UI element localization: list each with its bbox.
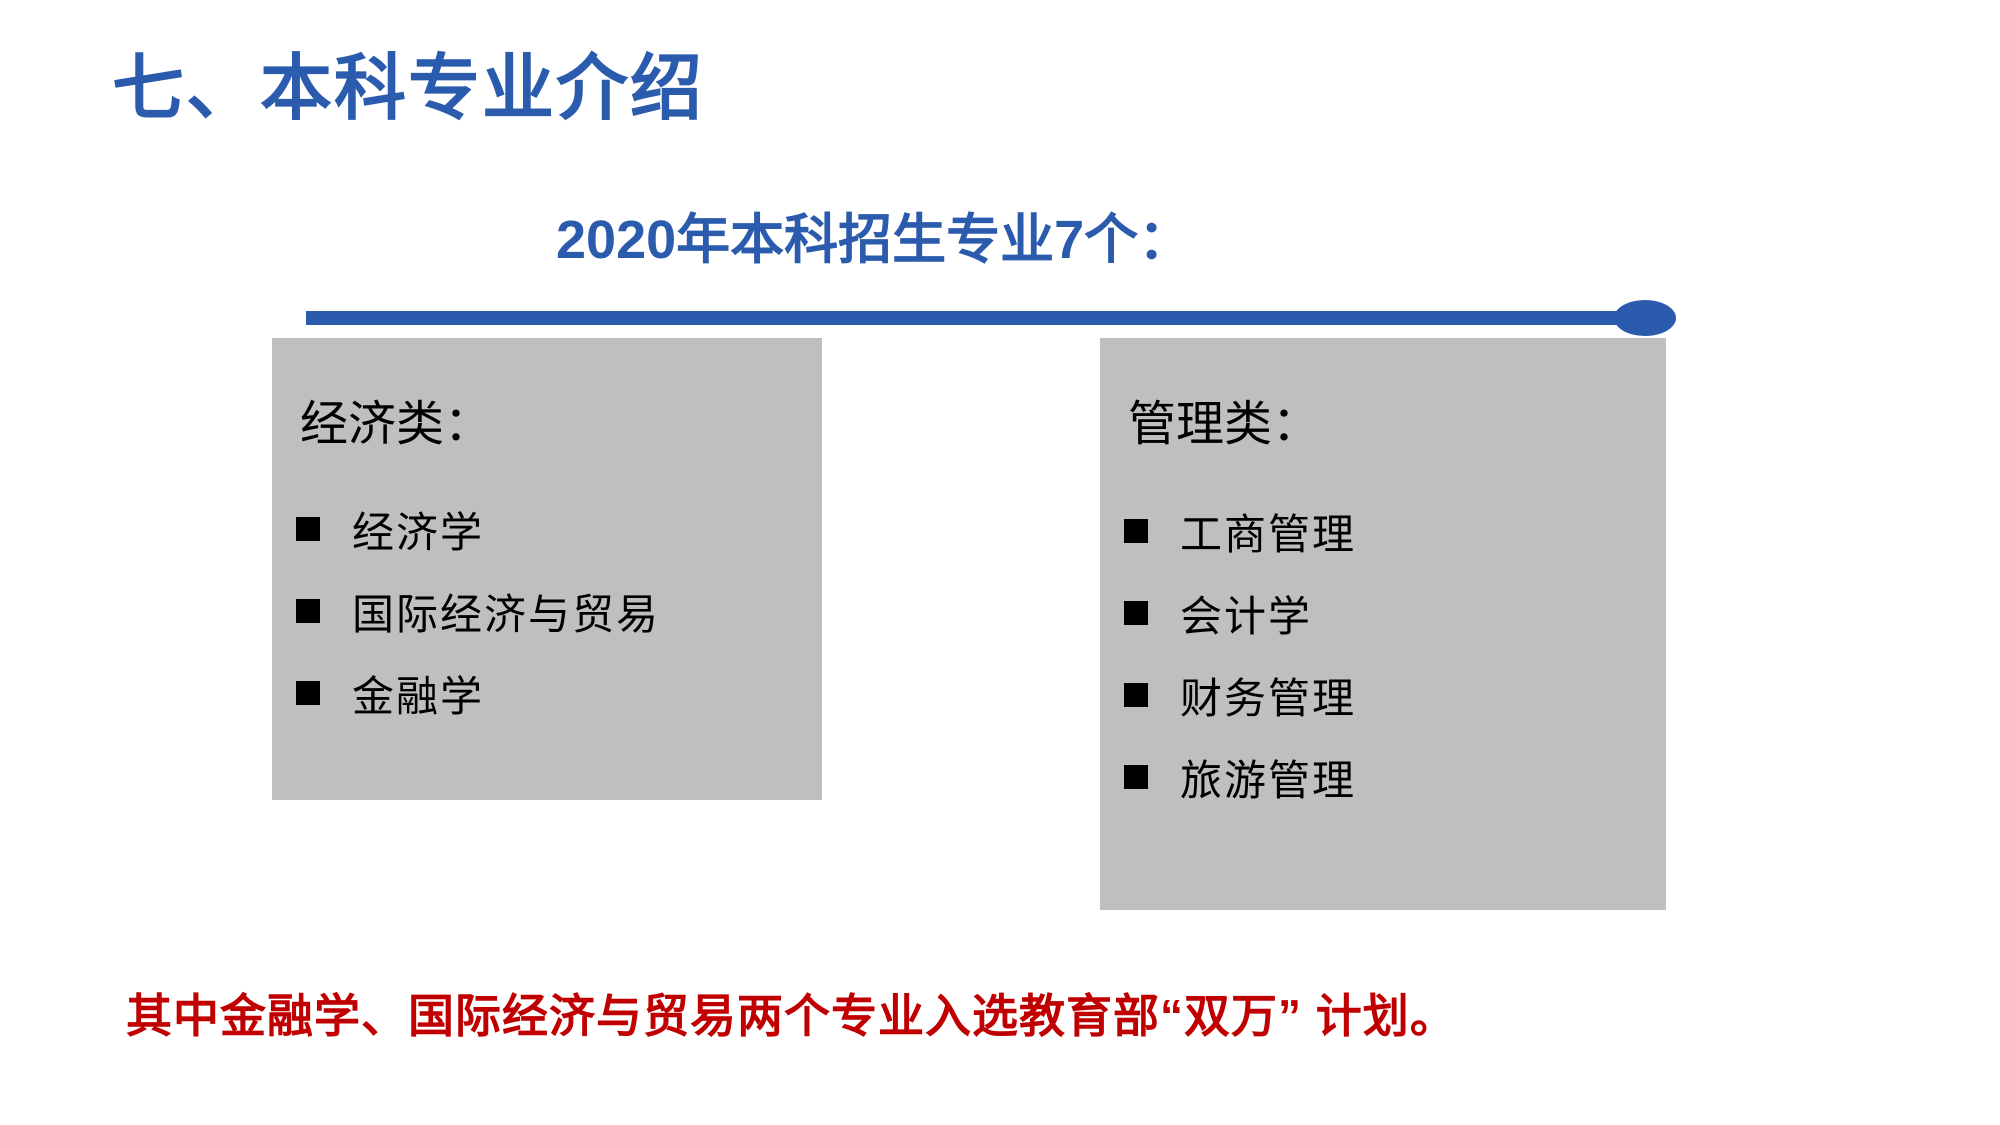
major-label: 工商管理 bbox=[1180, 501, 1356, 562]
list-item: 经济学 bbox=[296, 488, 812, 570]
accent-rule bbox=[306, 300, 1676, 336]
page-title: 七、本科专业介绍 bbox=[112, 52, 704, 128]
major-label: 会计学 bbox=[1180, 583, 1312, 644]
bullet-square-icon bbox=[1124, 519, 1148, 543]
list-item: 工商管理 bbox=[1124, 490, 1656, 572]
major-list-economics: 经济学 国际经济与贸易 金融学 bbox=[296, 488, 812, 734]
list-item: 会计学 bbox=[1124, 572, 1656, 654]
panel-heading-management: 管理类： bbox=[1128, 384, 1320, 454]
slide-subtitle: 2020年本科招生专业7个： bbox=[556, 212, 1192, 269]
major-label: 经济学 bbox=[352, 499, 484, 560]
major-label: 财务管理 bbox=[1180, 665, 1356, 726]
major-list-management: 工商管理 会计学 财务管理 旅游管理 bbox=[1124, 490, 1656, 818]
major-label: 旅游管理 bbox=[1180, 747, 1356, 808]
major-label: 金融学 bbox=[352, 663, 484, 724]
footnote-highlight: 其中金融学、国际经济与贸易两个专业入选教育部“双万” 计划。 bbox=[126, 980, 1457, 1046]
list-item: 财务管理 bbox=[1124, 654, 1656, 736]
panel-economics: 经济类： 经济学 国际经济与贸易 金融学 bbox=[272, 338, 822, 800]
list-item: 金融学 bbox=[296, 652, 812, 734]
bullet-square-icon bbox=[1124, 765, 1148, 789]
bullet-square-icon bbox=[296, 599, 320, 623]
slide-canvas: 七、本科专业介绍 2020年本科招生专业7个： 经济类： 经济学 国际经济与贸易… bbox=[0, 0, 2000, 1125]
accent-rule-dot-icon bbox=[1614, 300, 1676, 336]
list-item: 国际经济与贸易 bbox=[296, 570, 812, 652]
list-item: 旅游管理 bbox=[1124, 736, 1656, 818]
bullet-square-icon bbox=[296, 681, 320, 705]
major-label: 国际经济与贸易 bbox=[352, 581, 660, 642]
bullet-square-icon bbox=[296, 517, 320, 541]
bullet-square-icon bbox=[1124, 601, 1148, 625]
bullet-square-icon bbox=[1124, 683, 1148, 707]
panel-heading-economics: 经济类： bbox=[300, 384, 492, 454]
accent-rule-line bbox=[306, 311, 1642, 325]
panel-management: 管理类： 工商管理 会计学 财务管理 旅游管理 bbox=[1100, 338, 1666, 910]
